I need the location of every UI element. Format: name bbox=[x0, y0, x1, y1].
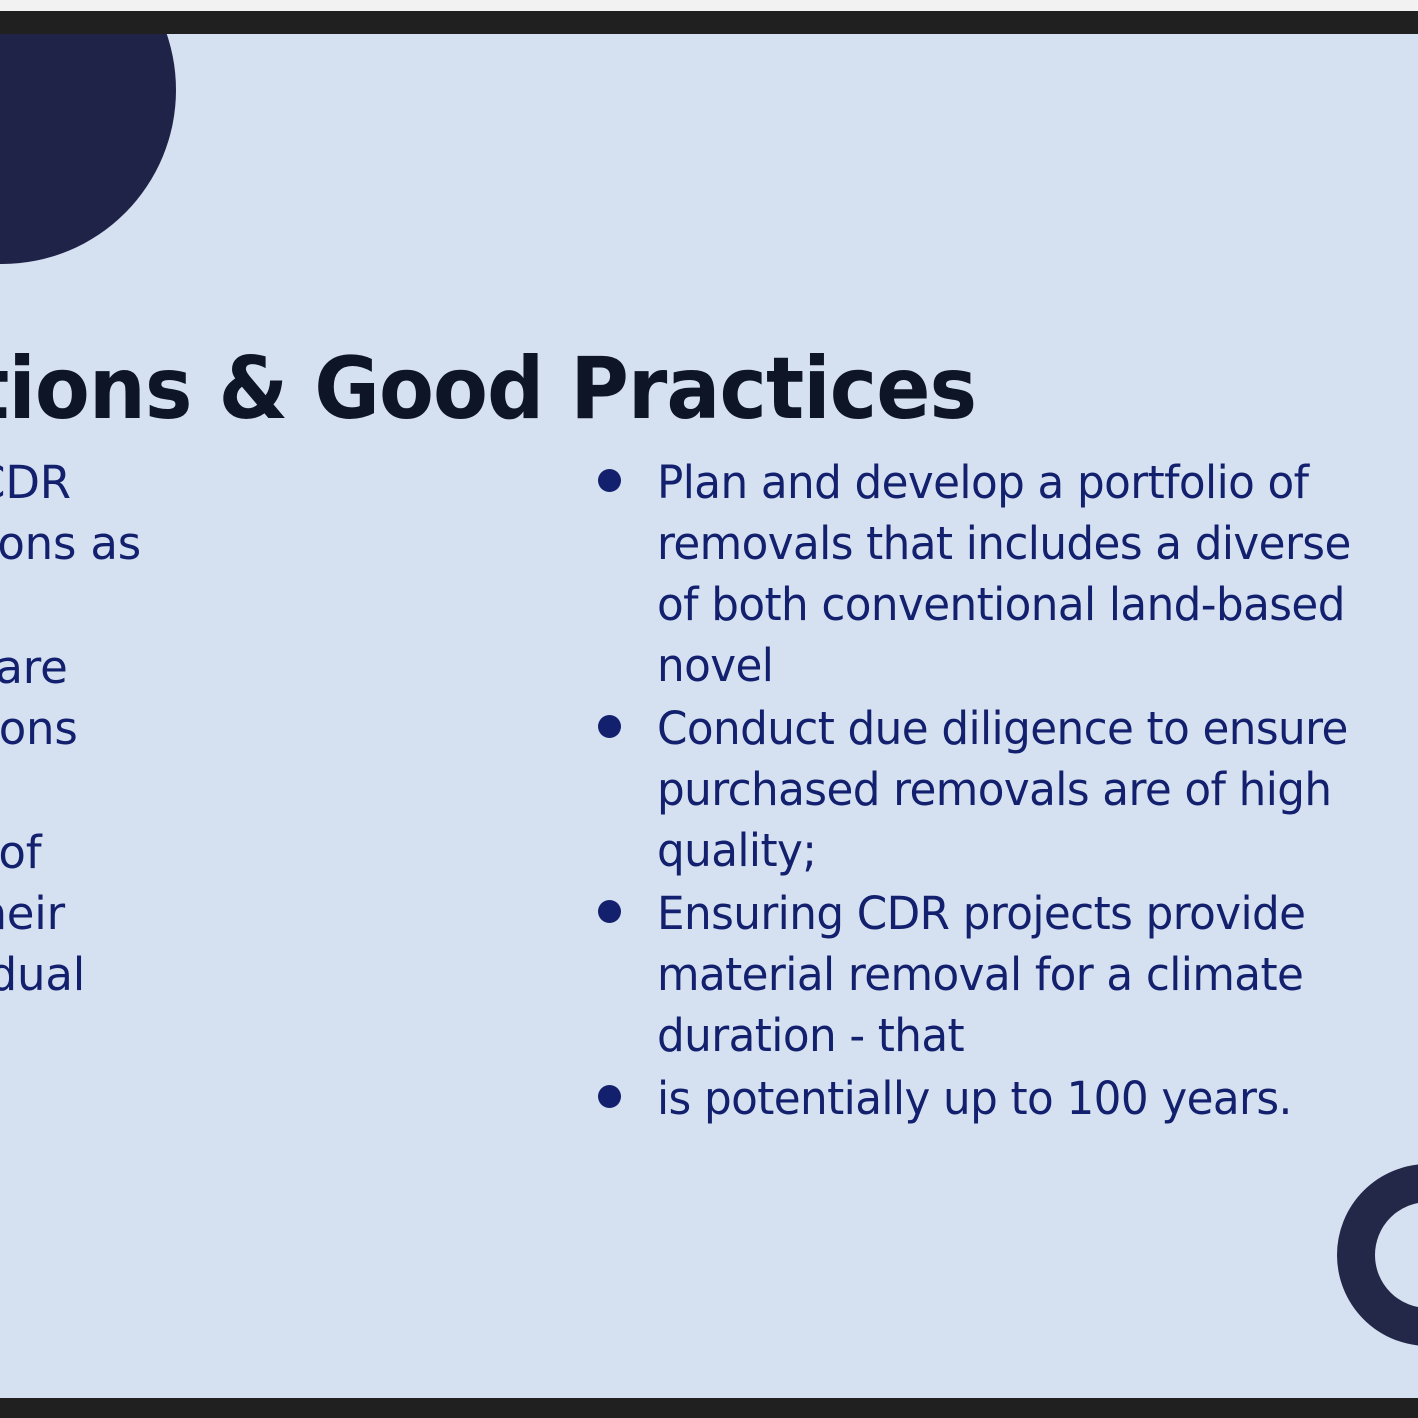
list-item-text: estments are l of emissions bbox=[0, 637, 78, 759]
screenshot-viewport: mendations & Good Practices need for CDR… bbox=[0, 0, 1418, 1418]
list-item-text: ployment of achieve their ralize residua… bbox=[0, 822, 85, 1066]
list-item: ployment of achieve their ralize residua… bbox=[0, 822, 414, 1066]
left-column: need for CDR ain emissions as estments a… bbox=[0, 452, 414, 1068]
right-column: Plan and develop a portfolio of removals… bbox=[598, 452, 1418, 1131]
bullet-dot-icon bbox=[598, 1085, 621, 1108]
corner-circle-decoration bbox=[0, 34, 176, 264]
column-spacer bbox=[0, 761, 414, 822]
list-item-text: Plan and develop a portfolio of removals… bbox=[657, 452, 1351, 696]
list-item: estments are l of emissions bbox=[0, 637, 414, 759]
list-item: Conduct due diligence to ensure purchase… bbox=[598, 698, 1418, 881]
list-item-text: is potentially up to 100 years. bbox=[657, 1068, 1292, 1129]
list-item: Ensuring CDR projects provide material r… bbox=[598, 883, 1418, 1066]
top-letterbox-bar bbox=[0, 11, 1418, 34]
list-item: Plan and develop a portfolio of removals… bbox=[598, 452, 1418, 696]
body-columns: need for CDR ain emissions as estments a… bbox=[0, 452, 1418, 1212]
bullet-dot-icon bbox=[598, 715, 621, 738]
page-title: mendations & Good Practices bbox=[0, 346, 1307, 432]
bullet-dot-icon bbox=[598, 469, 621, 492]
list-item-text: Ensuring CDR projects provide material r… bbox=[657, 883, 1305, 1066]
presentation-slide: mendations & Good Practices need for CDR… bbox=[0, 34, 1418, 1398]
list-item: is potentially up to 100 years. bbox=[598, 1068, 1418, 1129]
list-item-text: need for CDR ain emissions as bbox=[0, 452, 141, 574]
column-spacer bbox=[0, 576, 414, 637]
list-item-text: Conduct due diligence to ensure purchase… bbox=[657, 698, 1348, 881]
bottom-letterbox-bar bbox=[0, 1398, 1418, 1418]
bullet-dot-icon bbox=[598, 900, 621, 923]
list-item: need for CDR ain emissions as bbox=[0, 452, 414, 574]
